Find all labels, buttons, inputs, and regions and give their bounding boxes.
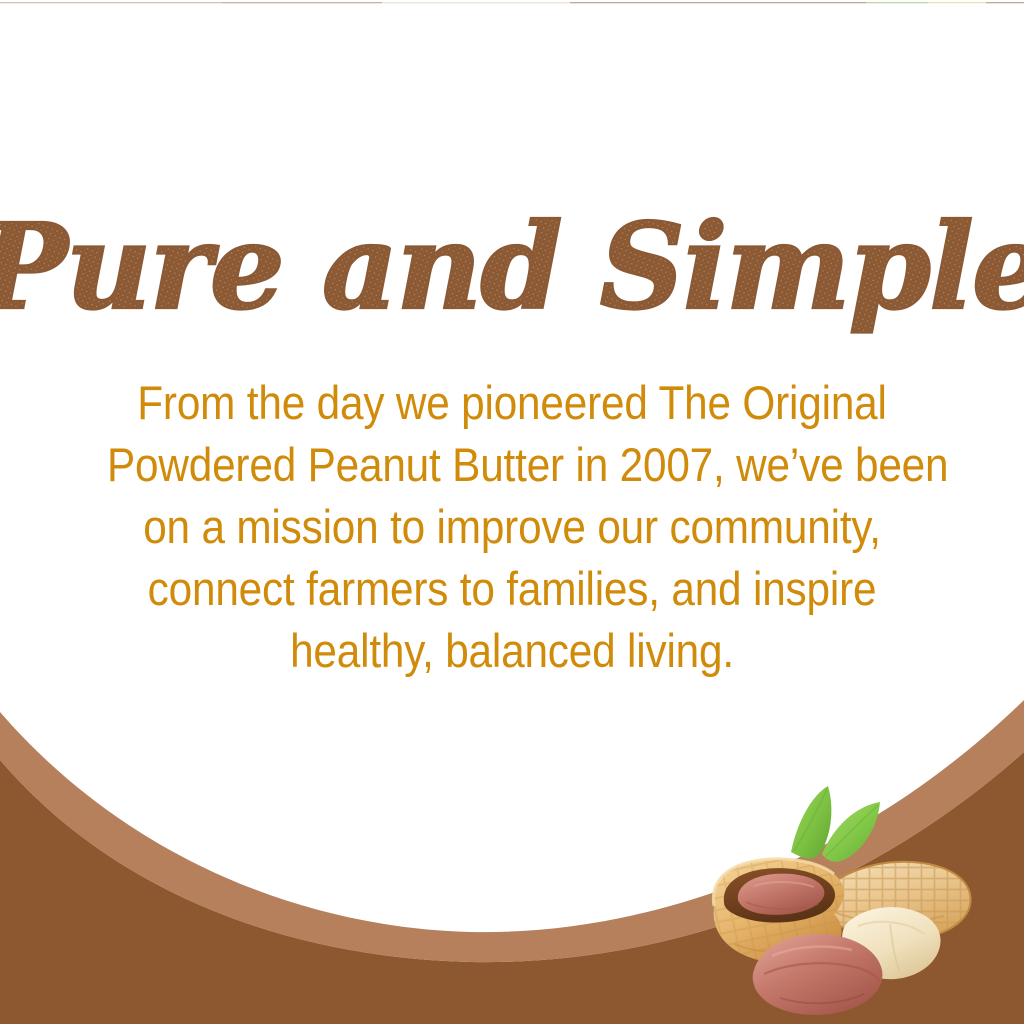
body-line-5: healthy, balanced living. (107, 620, 917, 682)
body-line-4: connect farmers to families, and inspire (107, 558, 917, 620)
body-line-1: From the day we pioneered The Original (107, 372, 917, 434)
page-title: Pure and Simple (0, 196, 1024, 356)
brand-story-card: Pure and Simple From the day we pioneere… (0, 0, 1024, 1024)
headline-script-svg: Pure and Simple (0, 196, 1024, 356)
peanut-illustration (694, 774, 1014, 1024)
headline-text: Pure and Simple (0, 197, 1024, 336)
body-line-2: Powdered Peanut Butter in 2007, we’ve be… (107, 434, 917, 496)
body-line-3: on a mission to improve our community, (107, 496, 917, 558)
peanut-illustration-svg (694, 774, 1014, 1024)
body-paragraph: From the day we pioneered The Original P… (62, 372, 962, 682)
